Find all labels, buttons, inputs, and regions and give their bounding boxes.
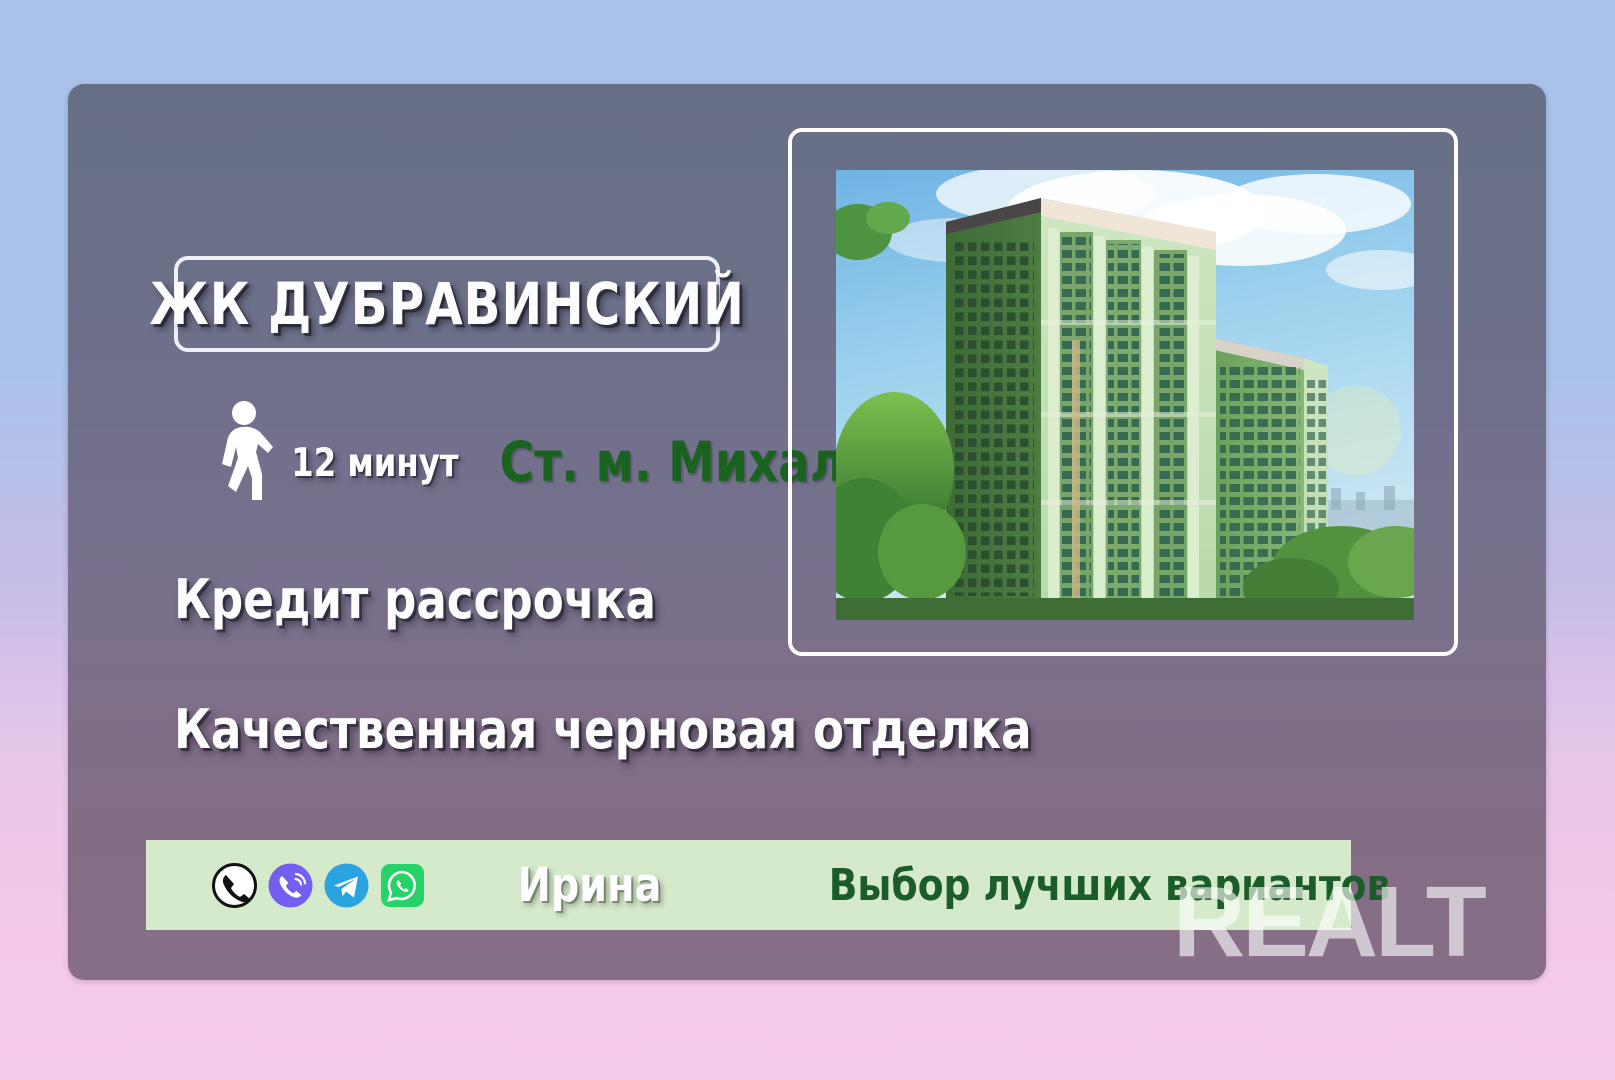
tagline-label: Выбор лучших вариантов [829, 860, 1391, 911]
social-icon-group [212, 863, 425, 908]
page-title: ЖК ДУБРАВИНСКИЙ [149, 270, 744, 338]
contact-bar: Ирина Выбор лучших вариантов [146, 840, 1351, 930]
phone-icon[interactable] [212, 863, 257, 908]
advertisement-card: ЖК ДУБРАВИНСКИЙ 12 минут Ст. м. Михалово… [68, 84, 1546, 980]
feature-rough-finishing: Качественная черновая отделка [174, 698, 1032, 761]
walk-time-label: 12 минут [291, 441, 458, 486]
viber-icon[interactable] [268, 863, 313, 908]
photo-frame [788, 128, 1458, 656]
building-photo [836, 170, 1414, 620]
agent-name-label: Ирина [518, 858, 662, 913]
feature-credit-installment: Кредит рассрочка [174, 568, 656, 631]
walking-person-icon [218, 400, 274, 504]
left-content-column: ЖК ДУБРАВИНСКИЙ 12 минут Ст. м. Михалово… [68, 84, 768, 824]
whatsapp-icon[interactable] [380, 863, 425, 908]
complex-title-plate: ЖК ДУБРАВИНСКИЙ [174, 256, 720, 352]
telegram-icon[interactable] [324, 863, 369, 908]
